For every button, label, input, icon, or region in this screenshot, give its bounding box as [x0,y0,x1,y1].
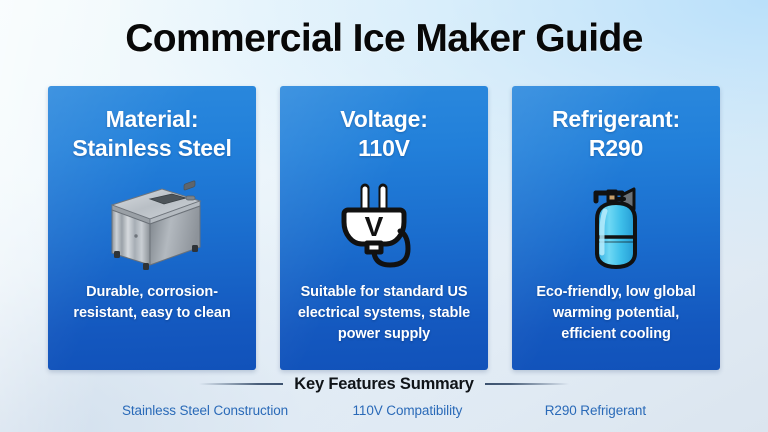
footer-item-stainless-steel[interactable]: Stainless Steel Construction [122,403,288,418]
infographic-slide: Commercial Ice Maker Guide Material: Sta… [0,0,768,432]
card-title-line1: Refrigerant: [552,106,680,132]
divider-left [199,383,283,385]
footer: Key Features Summary Stainless Steel Con… [0,374,768,418]
page-title: Commercial Ice Maker Guide [0,17,768,61]
card-title-line1: Voltage: [340,106,427,132]
feature-card-refrigerant[interactable]: Refrigerant: R290 [512,86,720,370]
card-title-refrigerant: Refrigerant: R290 [521,105,711,163]
card-description-material: Durable, corrosion-resistant, easy to cl… [60,282,244,324]
card-description-refrigerant: Eco-friendly, low global warming potenti… [524,282,708,345]
card-title-material: Material: Stainless Steel [57,105,247,163]
footer-item-list: Stainless Steel Construction 110V Compat… [0,403,768,418]
ice-maker-machine-icon [92,177,212,273]
gas-cylinder-icon [556,177,676,273]
card-title-voltage: Voltage: 110V [289,105,479,163]
feature-card-voltage[interactable]: Voltage: 110V V [280,86,488,370]
footer-item-voltage[interactable]: 110V Compatibility [353,403,463,418]
feature-card-material[interactable]: Material: Stainless Steel [48,86,256,370]
card-title-line2: Stainless Steel [72,135,231,161]
footer-item-refrigerant[interactable]: R290 Refrigerant [545,403,646,418]
card-title-line2: 110V [358,135,410,161]
summary-heading-row: Key Features Summary [0,374,768,394]
divider-right [485,383,569,385]
card-title-line1: Material: [106,106,199,132]
summary-title: Key Features Summary [294,375,473,394]
svg-text:V: V [365,211,384,242]
card-title-line2: R290 [589,135,643,161]
feature-card-row: Material: Stainless Steel [48,86,720,370]
card-description-voltage: Suitable for standard US electrical syst… [292,282,476,345]
power-plug-icon: V [324,177,444,273]
